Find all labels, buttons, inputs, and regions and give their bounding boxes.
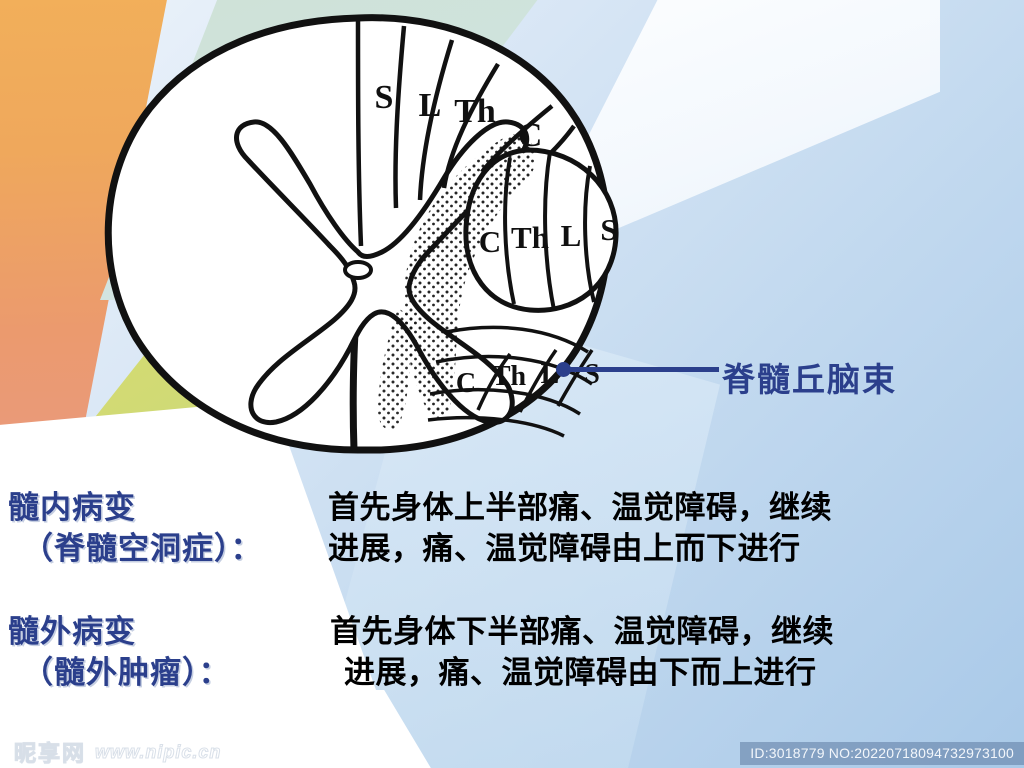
lateral-label-l: L bbox=[561, 218, 582, 253]
lesion-row-extramedullary: 髓外病变 （髓外肿瘤）： 首先身体下半部痛、温觉障碍，继续 进展，痛、温觉障碍由… bbox=[8, 612, 834, 694]
posterior-label-th: Th bbox=[454, 93, 496, 130]
lesion-row-intramedullary: 髓内病变 （脊髓空洞症）： 首先身体上半部痛、温觉障碍，继续 进展，痛、温觉障碍… bbox=[8, 488, 832, 570]
lesion-term-intramedullary-line1: 髓内病变 bbox=[8, 490, 136, 525]
lesion-desc-intramedullary-line2: 进展，痛、温觉障碍由上而下进行 bbox=[328, 529, 832, 570]
callout-label-spinothalamic-tract: 脊髓丘脑束 bbox=[722, 353, 897, 401]
lesion-desc-extramedullary-line1: 首先身体下半部痛、温觉障碍，继续 bbox=[330, 614, 834, 649]
lateral-label-th: Th bbox=[511, 220, 549, 255]
image-id-badge: ID:3018779 NO:20220718094732973100 bbox=[740, 742, 1024, 765]
spinal-cord-diagram: S L Th C C Th L S C Th bbox=[58, 2, 678, 472]
posterior-label-l: L bbox=[419, 87, 442, 124]
watermark-logo-text: 昵享网 bbox=[14, 736, 86, 768]
lesion-term-extramedullary-line2: （髓外肿瘤）： bbox=[8, 653, 324, 694]
lesion-desc-extramedullary-line2: 进展，痛、温觉障碍由下而上进行 bbox=[330, 653, 834, 694]
site-watermark: 昵享网 www.nipic.cn bbox=[14, 736, 221, 768]
lesion-desc-intramedullary-line1: 首先身体上半部痛、温觉障碍，继续 bbox=[328, 490, 832, 525]
slide-canvas: S L Th C C Th L S C Th bbox=[0, 0, 1024, 768]
posterior-label-s: S bbox=[375, 79, 394, 116]
anterolateral-label-l: L bbox=[541, 359, 560, 390]
lesion-term-intramedullary: 髓内病变 （脊髓空洞症）： bbox=[8, 488, 324, 570]
lesion-desc-intramedullary: 首先身体上半部痛、温觉障碍，继续 进展，痛、温觉障碍由上而下进行 bbox=[324, 488, 832, 570]
central-canal bbox=[345, 262, 371, 278]
lateral-label-s: S bbox=[600, 212, 617, 247]
watermark-url-text: www.nipic.cn bbox=[95, 742, 221, 763]
lesion-term-extramedullary-line1: 髓外病变 bbox=[8, 614, 136, 649]
lesion-term-intramedullary-line2: （脊髓空洞症）： bbox=[8, 529, 324, 570]
callout-leader-line bbox=[563, 367, 719, 372]
anterolateral-label-c: C bbox=[456, 368, 476, 399]
anterolateral-label-th: Th bbox=[492, 361, 527, 392]
lesion-term-extramedullary: 髓外病变 （髓外肿瘤）： bbox=[8, 612, 324, 694]
lesion-desc-extramedullary: 首先身体下半部痛、温觉障碍，继续 进展，痛、温觉障碍由下而上进行 bbox=[324, 612, 834, 694]
anterolateral-label-s: S bbox=[584, 359, 600, 390]
